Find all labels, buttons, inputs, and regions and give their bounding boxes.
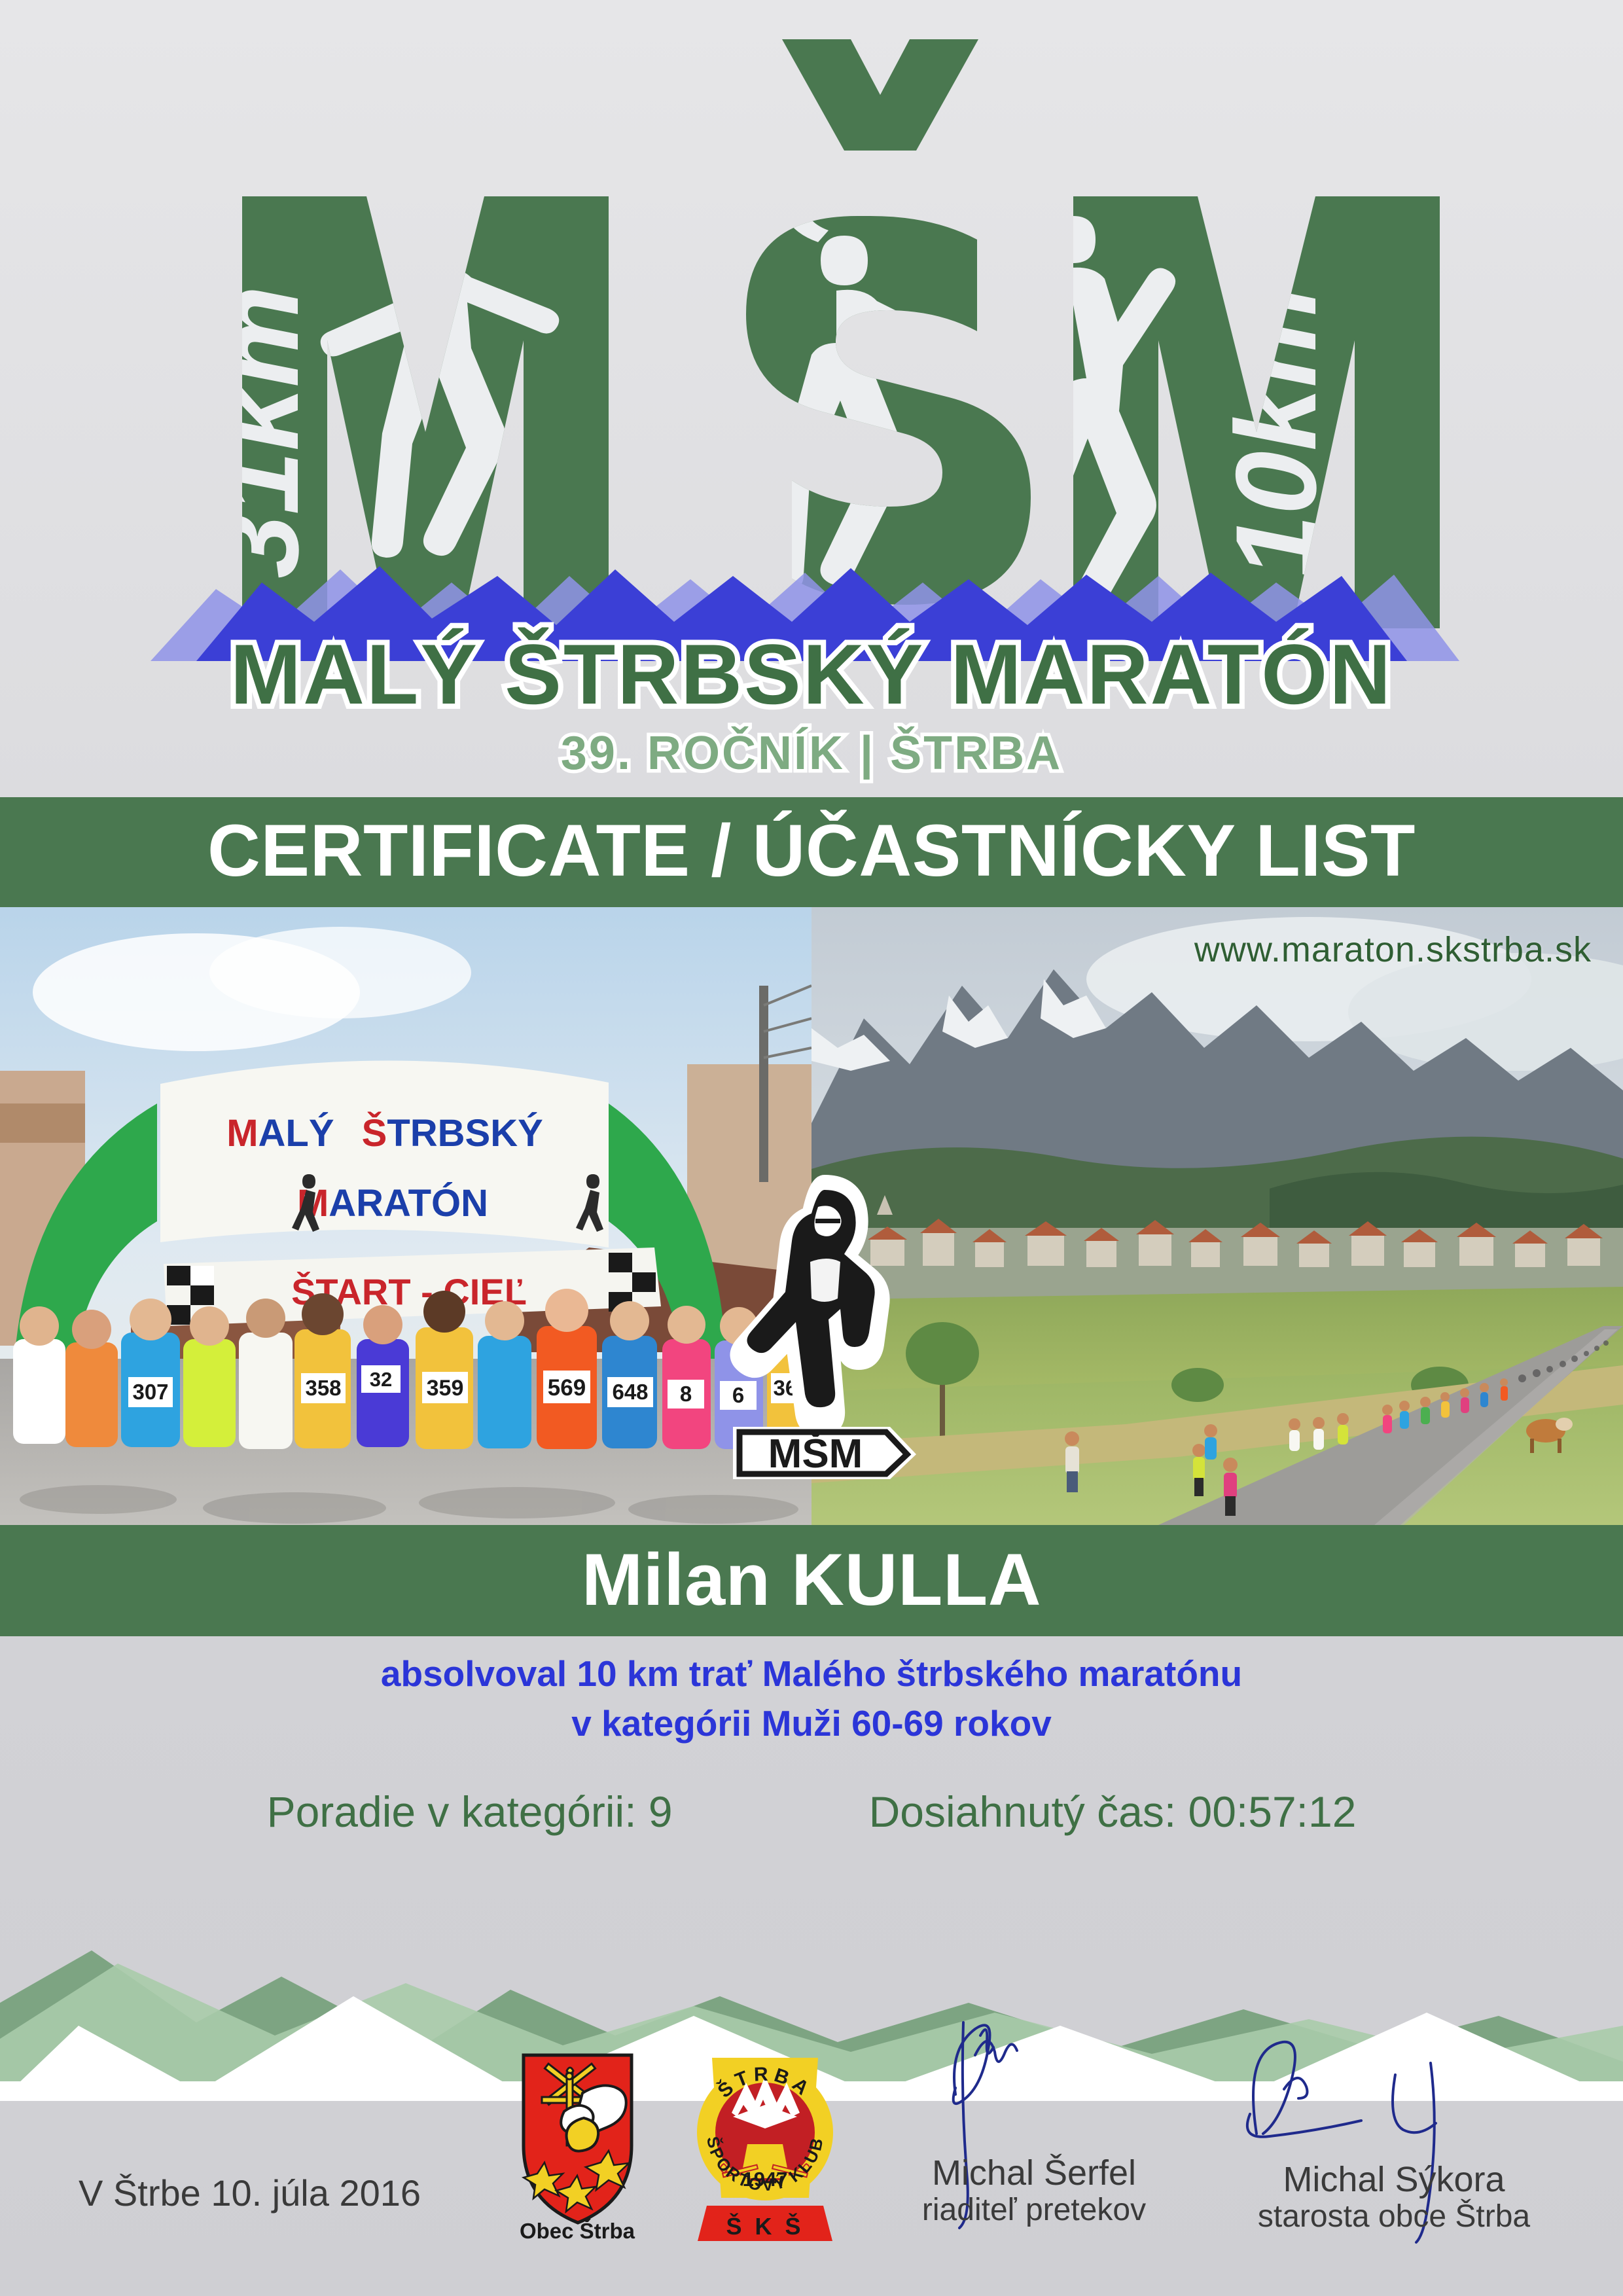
signature-block-mayor: Michal Sýkora starosta obce Štrba (1224, 2160, 1564, 2234)
logo-letter-m-left: 31km (195, 196, 609, 628)
certificate-title-band: CERTIFICATE / ÚČASTNÍCKY LIST (0, 797, 1623, 907)
caron-accent (782, 39, 978, 151)
bib-number: 569 (548, 1375, 586, 1401)
msm-runner-emblem: MŠM (726, 1172, 923, 1479)
bib-number: 32 (370, 1368, 392, 1391)
description-line-2: v kategórii Muži 60-69 rokov (0, 1699, 1623, 1749)
logo-letter-m-right: 10km (1021, 196, 1440, 628)
category-rank: Poradie v kategórii: 9 (267, 1787, 673, 1837)
logo-graphic: 31km 10km (0, 0, 1623, 792)
arch-banner-line-1: MALÝ ŠTRBSKÝ (226, 1112, 543, 1155)
emblem-text: MŠM (768, 1431, 863, 1477)
signature-name: Michal Šerfel (864, 2153, 1204, 2193)
crest-obec-label: Obec Štrba (520, 2218, 635, 2243)
certificate-page: 31km 10km (0, 0, 1623, 2296)
event-logo: 31km 10km (0, 0, 1623, 792)
obec-strba-crest: Obec Štrba (504, 2047, 651, 2247)
footer-date: V Štrbe 10. júla 2016 (79, 2172, 421, 2214)
signature-block-director: Michal Šerfel riaditeľ pretekov (864, 2153, 1204, 2228)
bib-number: 358 (305, 1376, 341, 1400)
bib-number: 648 (612, 1380, 648, 1404)
bib-number: 307 (132, 1380, 168, 1404)
bib-number: 8 (680, 1382, 692, 1406)
event-title-text: MALÝ ŠTRBSKÝ MARATÓN (230, 626, 1393, 722)
spectator (1065, 1431, 1079, 1492)
distance-left-text: 31km (195, 285, 323, 579)
achieved-time: Dosiahnutý čas: 00:57:12 (869, 1787, 1357, 1837)
signature-role: starosta obce Štrba (1224, 2199, 1564, 2234)
results-row: Poradie v kategórii: 9 Dosiahnutý čas: 0… (0, 1787, 1623, 1837)
arch-banner-line-2: MARATÓN (297, 1182, 488, 1225)
description-line-1: absolvoval 10 km trať Malého štrbského m… (0, 1649, 1623, 1699)
photo-tatra-landscape: www.maraton.skstrba.sk (811, 907, 1623, 1525)
participant-name: Milan KULLA (0, 1543, 1623, 1617)
signature-role: riaditeľ pretekov (864, 2193, 1204, 2228)
distance-right-text: 10km (1213, 285, 1340, 579)
participant-name-band: Milan KULLA (0, 1525, 1623, 1636)
website-url: www.maraton.skstrba.sk (1194, 929, 1592, 970)
signature-name: Michal Sýkora (1224, 2160, 1564, 2199)
sks-club-logo: 1947 ŠTRBA ŠPORTOVÝ KLUB Š K Š (692, 2034, 838, 2244)
logo-letter-s-center (746, 39, 1031, 605)
certificate-title: CERTIFICATE / ÚČASTNÍCKY LIST (0, 814, 1623, 888)
sks-bottom-text: Š K Š (726, 2212, 804, 2240)
certificate-description: absolvoval 10 km trať Malého štrbského m… (0, 1649, 1623, 1749)
event-subtitle-text: 39. ROČNÍK | ŠTRBA (561, 726, 1062, 780)
bib-number: 359 (427, 1376, 464, 1401)
photo-start-line: MALÝ ŠTRBSKÝ MARATÓN (0, 907, 811, 1525)
